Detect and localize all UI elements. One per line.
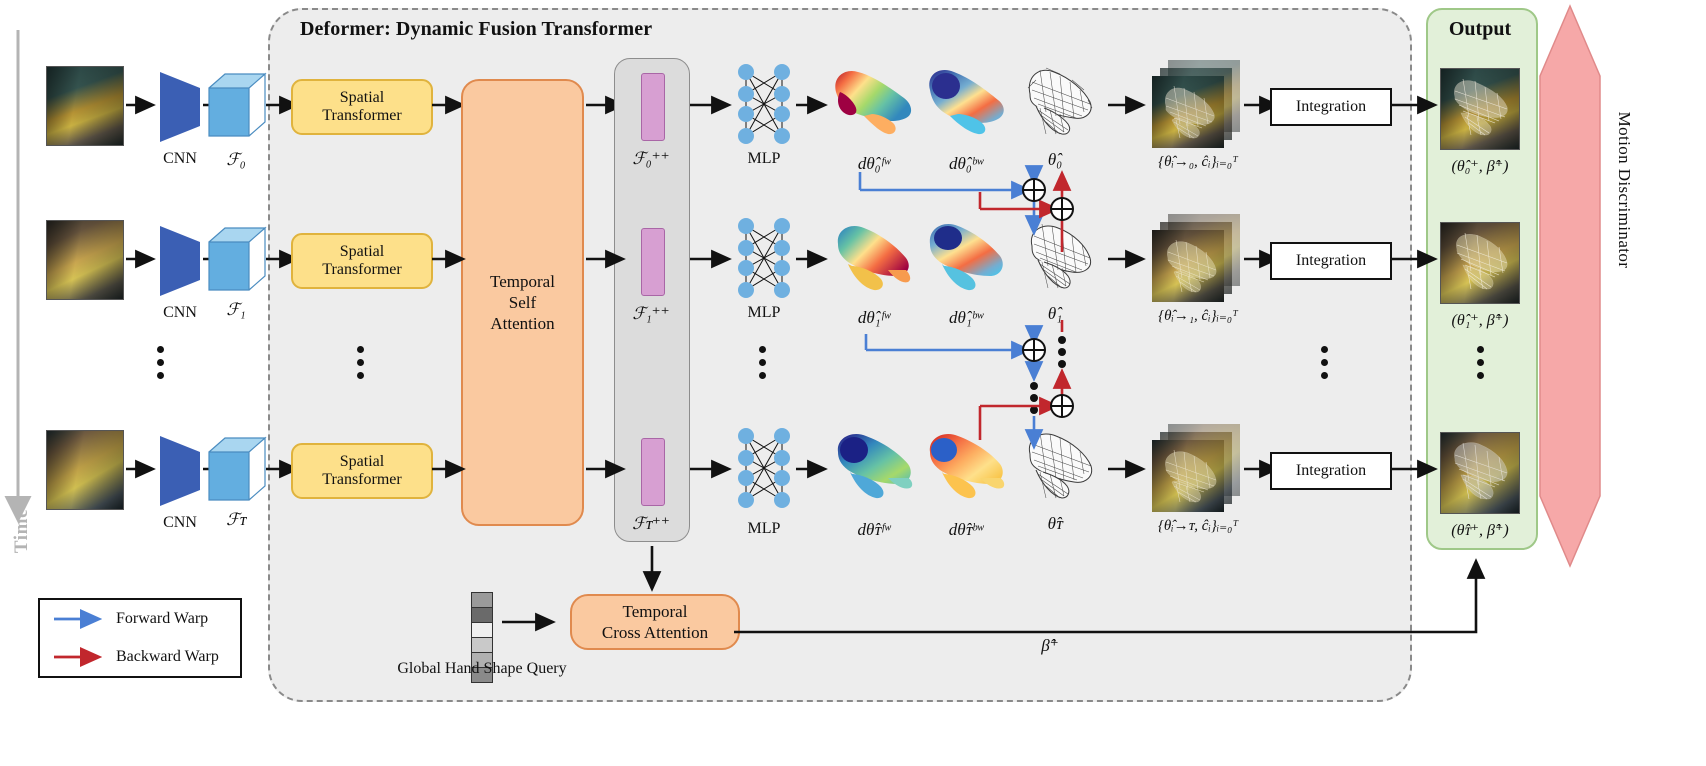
output-label-0: (θ̂₀⁺, β̂⁺) [1428, 156, 1532, 176]
spatial-label-line2-0: Transformer [322, 107, 401, 124]
integration-box-T[interactable]: Integration [1270, 452, 1392, 490]
image-stack-icon-1 [1152, 214, 1240, 302]
integration-label-0: Integration [1296, 98, 1366, 116]
feature-token-0 [641, 73, 665, 141]
mlp-label-T: MLP [734, 520, 794, 538]
integration-label-T: Integration [1296, 462, 1366, 480]
hand-mesh-icon-0 [1016, 60, 1098, 144]
spatial-transformer-1[interactable]: Spatial Transformer [291, 233, 433, 289]
row-ellipsis-mlp [750, 340, 774, 385]
deformer-panel-title: Deformer: Dynamic Fusion Transformer [300, 18, 652, 41]
stack-label-T: {θ̂ᵢ→ᴛ, ĉᵢ}ᵢ₌₀ᵀ [1140, 516, 1256, 535]
legend-label-backward-warp: Backward Warp [116, 648, 219, 666]
temporal-self-attention[interactable]: Temporal Self Attention [461, 79, 584, 526]
feature-cube-icon-T [205, 430, 267, 510]
mlp-network-icon-0 [736, 62, 792, 146]
feature-token-1 [641, 228, 665, 296]
arrow-mlp-to-heatmap-T [796, 459, 828, 479]
tsa-line3: Attention [490, 314, 554, 333]
stack-label-1: {θ̂ᵢ→₁, ĉᵢ}ᵢ₌₀ᵀ [1140, 306, 1256, 325]
motion-discriminator-arrow [1540, 6, 1600, 566]
arrow-integration-to-output-T [1390, 459, 1438, 479]
theta-label-T: θ̂ᴛ [1020, 514, 1090, 534]
feature-label-T: ℱᴛ [206, 510, 266, 530]
arrow-spatial-to-tsa-1 [432, 249, 466, 269]
backward-delta-label-T: dθ̂ᴛᵇʷ [926, 520, 1006, 540]
spatial-transformer-0[interactable]: Spatial Transformer [291, 79, 433, 135]
input-frame-0 [46, 66, 124, 146]
mlp-label-0: MLP [734, 150, 794, 168]
arrow-input-to-cnn-0 [126, 95, 156, 115]
cnn-label-T: CNN [150, 514, 210, 532]
arrow-mlp-to-heatmap-1 [796, 249, 828, 269]
beta-output-label: β̂⁺ [1010, 636, 1090, 656]
stack-label-0: {θ̂ᵢ→₀, ĉᵢ}ᵢ₌₀ᵀ [1140, 152, 1256, 171]
motion-discriminator-label: Motion Discriminator [1614, 90, 1634, 290]
hand-heatmap-icon-bw-0 [920, 62, 1008, 144]
arrow-input-to-cnn-1 [126, 249, 156, 269]
backward-warp-icon [52, 649, 106, 665]
input-frame-1 [46, 220, 124, 300]
row-ellipsis-input [148, 340, 172, 385]
spatial-label-line1-1: Spatial [340, 243, 384, 260]
feature-cube-icon-0 [205, 66, 267, 146]
row-ellipsis-spatial [348, 340, 372, 385]
mlp-network-icon-T [736, 426, 792, 510]
image-stack-icon-T [1152, 424, 1240, 512]
arrow-mesh-to-stack-1 [1108, 249, 1146, 269]
integration-box-1[interactable]: Integration [1270, 242, 1392, 280]
spatial-label-line2-T: Transformer [322, 471, 401, 488]
arrow-capsule-to-tca [642, 546, 662, 592]
feature-token-T [641, 438, 665, 506]
arrow-token-to-mlp-T [690, 459, 732, 479]
arrow-integration-to-output-1 [1390, 249, 1438, 269]
arrow-mlp-to-heatmap-0 [796, 95, 828, 115]
spatial-label-line1-T: Spatial [340, 453, 384, 470]
feature-cube-icon-1 [205, 220, 267, 300]
token-label-0: ℱ₀⁺⁺ [621, 149, 681, 169]
integration-label-1: Integration [1296, 252, 1366, 270]
output-label-T: (θ̂ᴛ⁺, β̂⁺) [1428, 520, 1532, 540]
arrow-mesh-to-stack-T [1108, 459, 1146, 479]
legend-item-forward-warp: Forward Warp [40, 600, 240, 638]
arrow-token-to-mlp-1 [690, 249, 732, 269]
output-frame-0 [1440, 68, 1520, 150]
mlp-network-icon-1 [736, 216, 792, 300]
image-stack-icon-0 [1152, 60, 1240, 148]
time-axis-label: Time [11, 491, 33, 571]
cnn-trapezoid-icon-T [158, 432, 202, 508]
cnn-label-0: CNN [150, 150, 210, 168]
integration-box-0[interactable]: Integration [1270, 88, 1392, 126]
output-frame-T [1440, 432, 1520, 514]
tsa-line2: Self [509, 293, 536, 312]
hand-heatmap-icon-fw-0 [828, 62, 916, 144]
arrow-input-to-cnn-T [126, 459, 156, 479]
warp-network-row1 [850, 320, 1110, 480]
forward-delta-label-T: dθ̂ᴛᶠʷ [834, 520, 914, 540]
spatial-label-line2-1: Transformer [322, 261, 401, 278]
arrow-spatial-to-tsa-T [432, 459, 466, 479]
time-axis-arrow [10, 30, 30, 520]
arrow-token-to-mlp-0 [690, 95, 732, 115]
token-label-T: ℱᴛ⁺⁺ [621, 514, 681, 534]
tca-line2: Cross Attention [602, 623, 708, 642]
output-label-1: (θ̂₁⁺, β̂⁺) [1428, 310, 1532, 330]
row-ellipsis-stack [1312, 340, 1336, 385]
arrow-mesh-to-stack-0 [1108, 95, 1146, 115]
token-label-1: ℱ₁⁺⁺ [621, 304, 681, 324]
temporal-cross-attention[interactable]: Temporal Cross Attention [570, 594, 740, 650]
spatial-transformer-T[interactable]: Spatial Transformer [291, 443, 433, 499]
arrow-query-to-tca [502, 612, 556, 632]
legend-label-forward-warp: Forward Warp [116, 610, 208, 628]
tsa-line1: Temporal [490, 272, 555, 291]
tca-line1: Temporal [623, 602, 688, 621]
global-hand-shape-query-label: Global Hand Shape Query [392, 660, 572, 678]
output-panel-title: Output [1426, 18, 1534, 41]
legend-box: Forward Warp Backward Warp [38, 598, 242, 678]
arrow-tsa-to-token-T [586, 459, 626, 479]
beta-output-path [734, 556, 1494, 676]
spatial-label-line1-0: Spatial [340, 89, 384, 106]
cnn-label-1: CNN [150, 304, 210, 322]
arrow-tsa-to-token-1 [586, 249, 626, 269]
forward-warp-icon [52, 611, 106, 627]
row-ellipsis-output [1468, 340, 1492, 385]
feature-label-0: ℱ₀ [206, 150, 266, 170]
cnn-trapezoid-icon-1 [158, 222, 202, 298]
feature-label-1: ℱ₁ [206, 300, 266, 320]
mlp-label-1: MLP [734, 304, 794, 322]
output-frame-1 [1440, 222, 1520, 304]
legend-item-backward-warp: Backward Warp [40, 638, 240, 676]
cnn-trapezoid-icon-0 [158, 68, 202, 144]
input-frame-T [46, 430, 124, 510]
arrow-integration-to-output-0 [1390, 95, 1438, 115]
